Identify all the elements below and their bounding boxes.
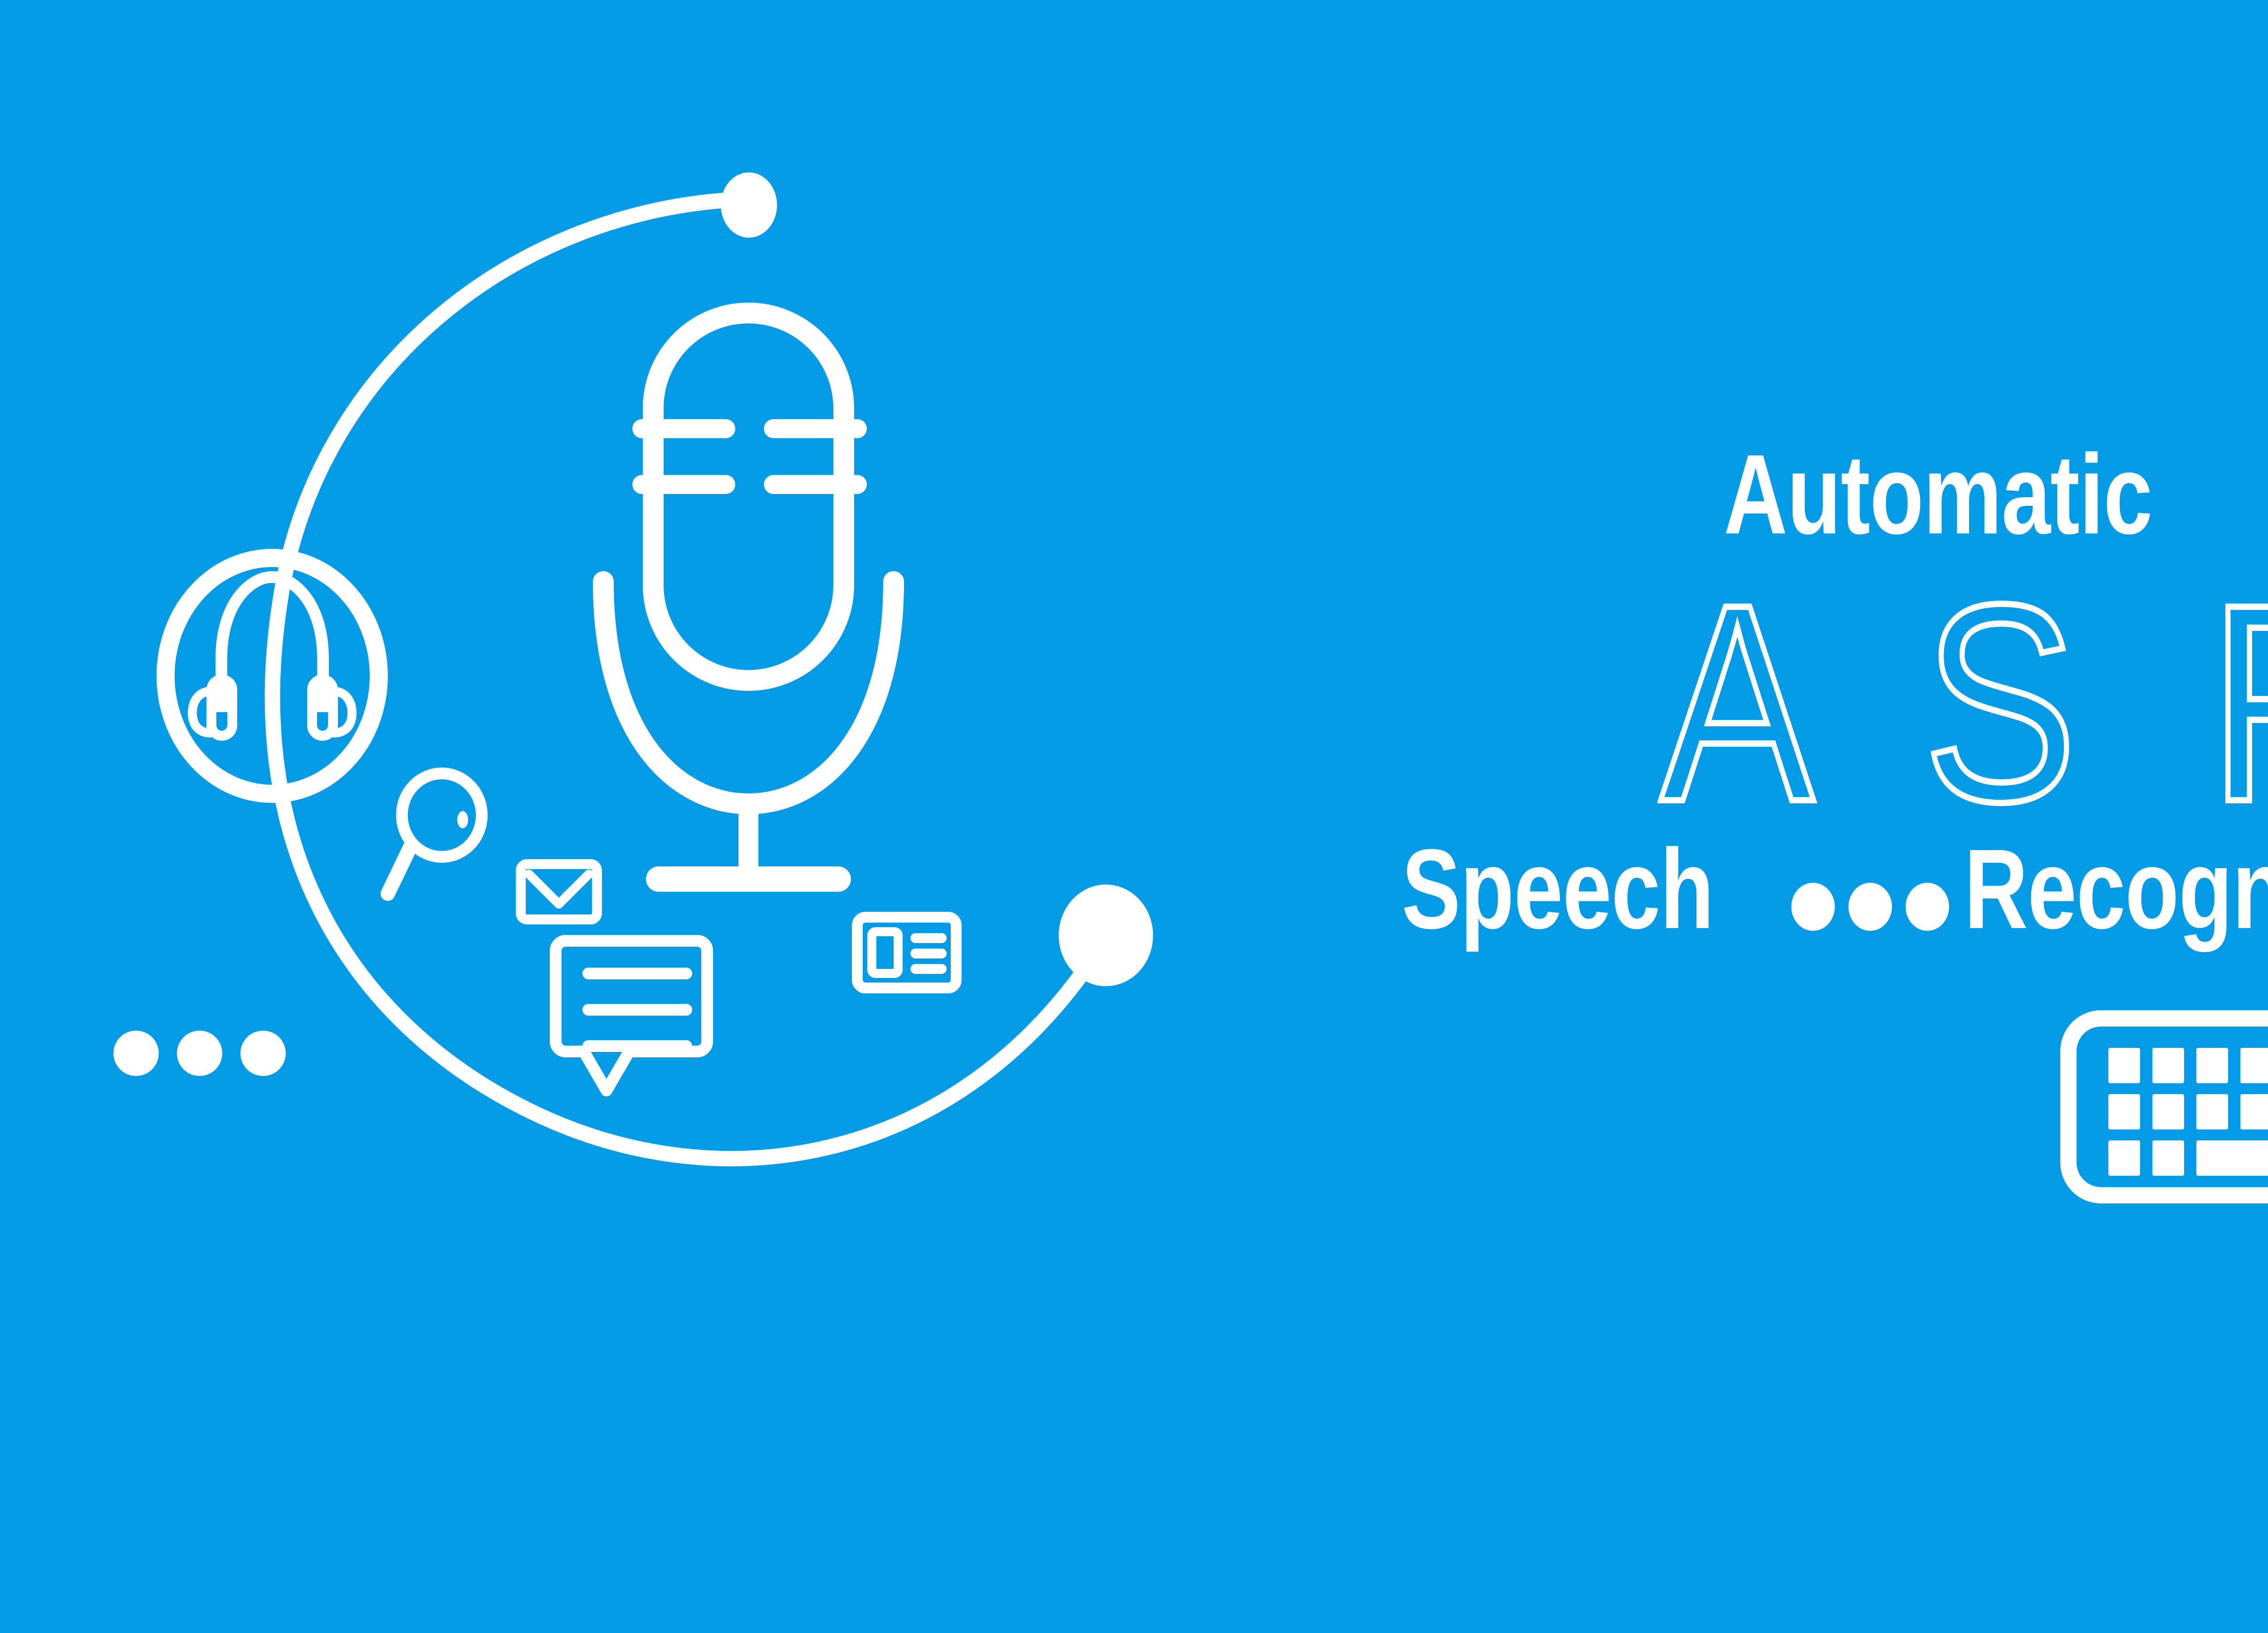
- sep-dot-1: [1791, 883, 1835, 931]
- ellipsis-dot-2: [177, 1031, 222, 1076]
- headline-recognition: Recognition: [1964, 832, 2268, 946]
- chat-bubble-icon: [556, 941, 707, 1090]
- left-graphic-group: [113, 172, 1153, 1159]
- sep-dot-3: [1906, 883, 1949, 931]
- microphone-icon: [603, 313, 894, 879]
- acronym-letter-r: R: [2209, 562, 2268, 844]
- arc-end-dot-bottom: [1059, 885, 1153, 986]
- acronym-letter-s: S: [1923, 562, 2077, 844]
- spacebar-key: [2196, 1140, 2268, 1176]
- chat-lines: [588, 973, 686, 1046]
- keyboard-keys: [2108, 1048, 2268, 1176]
- envelope-icon: [521, 864, 597, 919]
- headline-automatic: Automatic: [1724, 438, 2152, 551]
- sep-dot-2: [1848, 883, 1892, 931]
- id-card-icon: [857, 917, 956, 988]
- ellipsis-dots: [113, 1031, 286, 1076]
- headline-speech: Speech: [1402, 832, 1714, 946]
- acronym-letter-a: A: [1660, 562, 1814, 844]
- keyboard-icon: [2068, 965, 2268, 1271]
- ellipsis-dot-3: [240, 1031, 286, 1076]
- ellipsis-dot-1: [113, 1031, 159, 1076]
- magnifier-icon: [388, 773, 482, 894]
- arc-end-dot-top: [721, 172, 777, 238]
- headline-separator-dots: [1791, 883, 1949, 931]
- poster-canvas: Automatic A S R Speech Recognition: [0, 0, 2268, 1633]
